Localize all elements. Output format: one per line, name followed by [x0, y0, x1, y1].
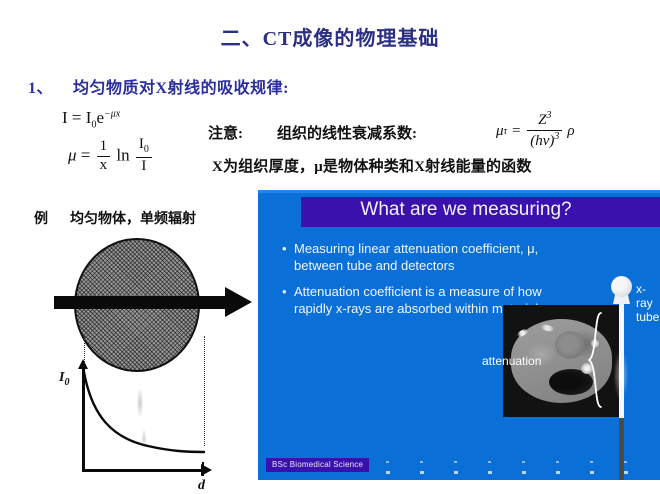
formula-beer-lambert: I = I0e−μx [62, 108, 154, 130]
fraction-z3-over-hv3: Z3 (hν)3 [527, 111, 562, 150]
x-ray-beam-arrow-icon [54, 296, 226, 309]
bullet-text: Measuring linear attenuation coefficient… [294, 240, 542, 274]
fraction-i0-over-i: I0 I [136, 137, 152, 175]
formula-lhs: I [62, 108, 68, 127]
list-item: • Measuring linear attenuation coefficie… [282, 240, 542, 274]
beam-glow [610, 340, 632, 410]
scan-artifact-2 [122, 376, 162, 466]
fraction-denominator: x [97, 158, 111, 174]
bullet-marker: • [282, 283, 294, 317]
note-label: 注意: [208, 122, 243, 143]
note-definition: X为组织厚度，μ是物体种类和X射线能量的函数 [212, 155, 532, 176]
slide-footer-tag: BSc Biomedical Science [266, 458, 369, 472]
figure-caption-prefix: 例 [34, 212, 48, 227]
mu-tau-numerator: Z3 [535, 111, 554, 129]
y-axis [82, 368, 85, 472]
formula-mu-solved: μ = 1 x ln I0 I [68, 138, 154, 176]
fraction-denominator-2: I [138, 159, 149, 175]
y-axis-label: I0 [59, 370, 69, 388]
x-axis-label: d [198, 478, 205, 494]
figure-caption: 例均匀物体，单频辐射 [34, 208, 196, 228]
mu-tau-rho: ρ [567, 123, 574, 140]
slide-accent-bar [258, 190, 660, 193]
ct-organ-region [555, 331, 585, 359]
formula-exponent: −μx [104, 108, 120, 119]
attenuation-brace-icon [588, 312, 602, 408]
formula-mu-tau: μτ = Z3 (hν)3 ρ [496, 112, 575, 151]
formula-e: e [96, 108, 104, 127]
footer-dotted-line [386, 461, 654, 463]
formula-mu: μ [68, 146, 77, 165]
bullet-marker: • [282, 240, 294, 274]
attenuation-figure: 例均匀物体，单频辐射 I0 d [26, 196, 252, 468]
embedded-slide: What are we measuring? • Measuring linea… [258, 190, 660, 480]
formula-equals-2: = [81, 146, 91, 165]
fraction-one-over-x: 1 x [97, 139, 111, 174]
fraction-numerator-2: I0 [136, 137, 152, 156]
note-row: 注意: 组织的线性衰减系数: [208, 122, 417, 143]
formula-block: I = I0e−μx μ = 1 x ln I0 I [62, 108, 154, 176]
mu-tau-denominator: (hν)3 [527, 132, 562, 150]
attenuation-label: attenuation [482, 354, 541, 368]
slide-heading: What are we measuring? [301, 199, 631, 221]
section-number: 1、 [28, 80, 53, 97]
x-ray-tube-label: x-ray tube [636, 282, 660, 324]
footer-dotted-line-2 [386, 471, 654, 474]
figure-caption-text: 均匀物体，单频辐射 [70, 212, 196, 227]
x-ray-tube-icon [611, 276, 632, 297]
formula-equals: = [72, 108, 82, 127]
page-title: 二、CT成像的物理基础 [0, 22, 660, 51]
mu-tau-equals: = [511, 123, 521, 140]
section-text: 均匀物质对X射线的吸收规律: [73, 80, 289, 97]
x-axis [82, 469, 202, 472]
fraction-numerator: 1 [97, 139, 111, 155]
section-heading: 1、均匀物质对X射线的吸收规律: [28, 74, 289, 98]
note-text: 组织的线性衰减系数: [277, 122, 417, 143]
x-axis-tick [202, 462, 204, 476]
mu-tau-lhs: μ [496, 123, 504, 140]
mu-tau-sub: τ [504, 126, 508, 137]
formula-ln: ln [116, 146, 129, 165]
